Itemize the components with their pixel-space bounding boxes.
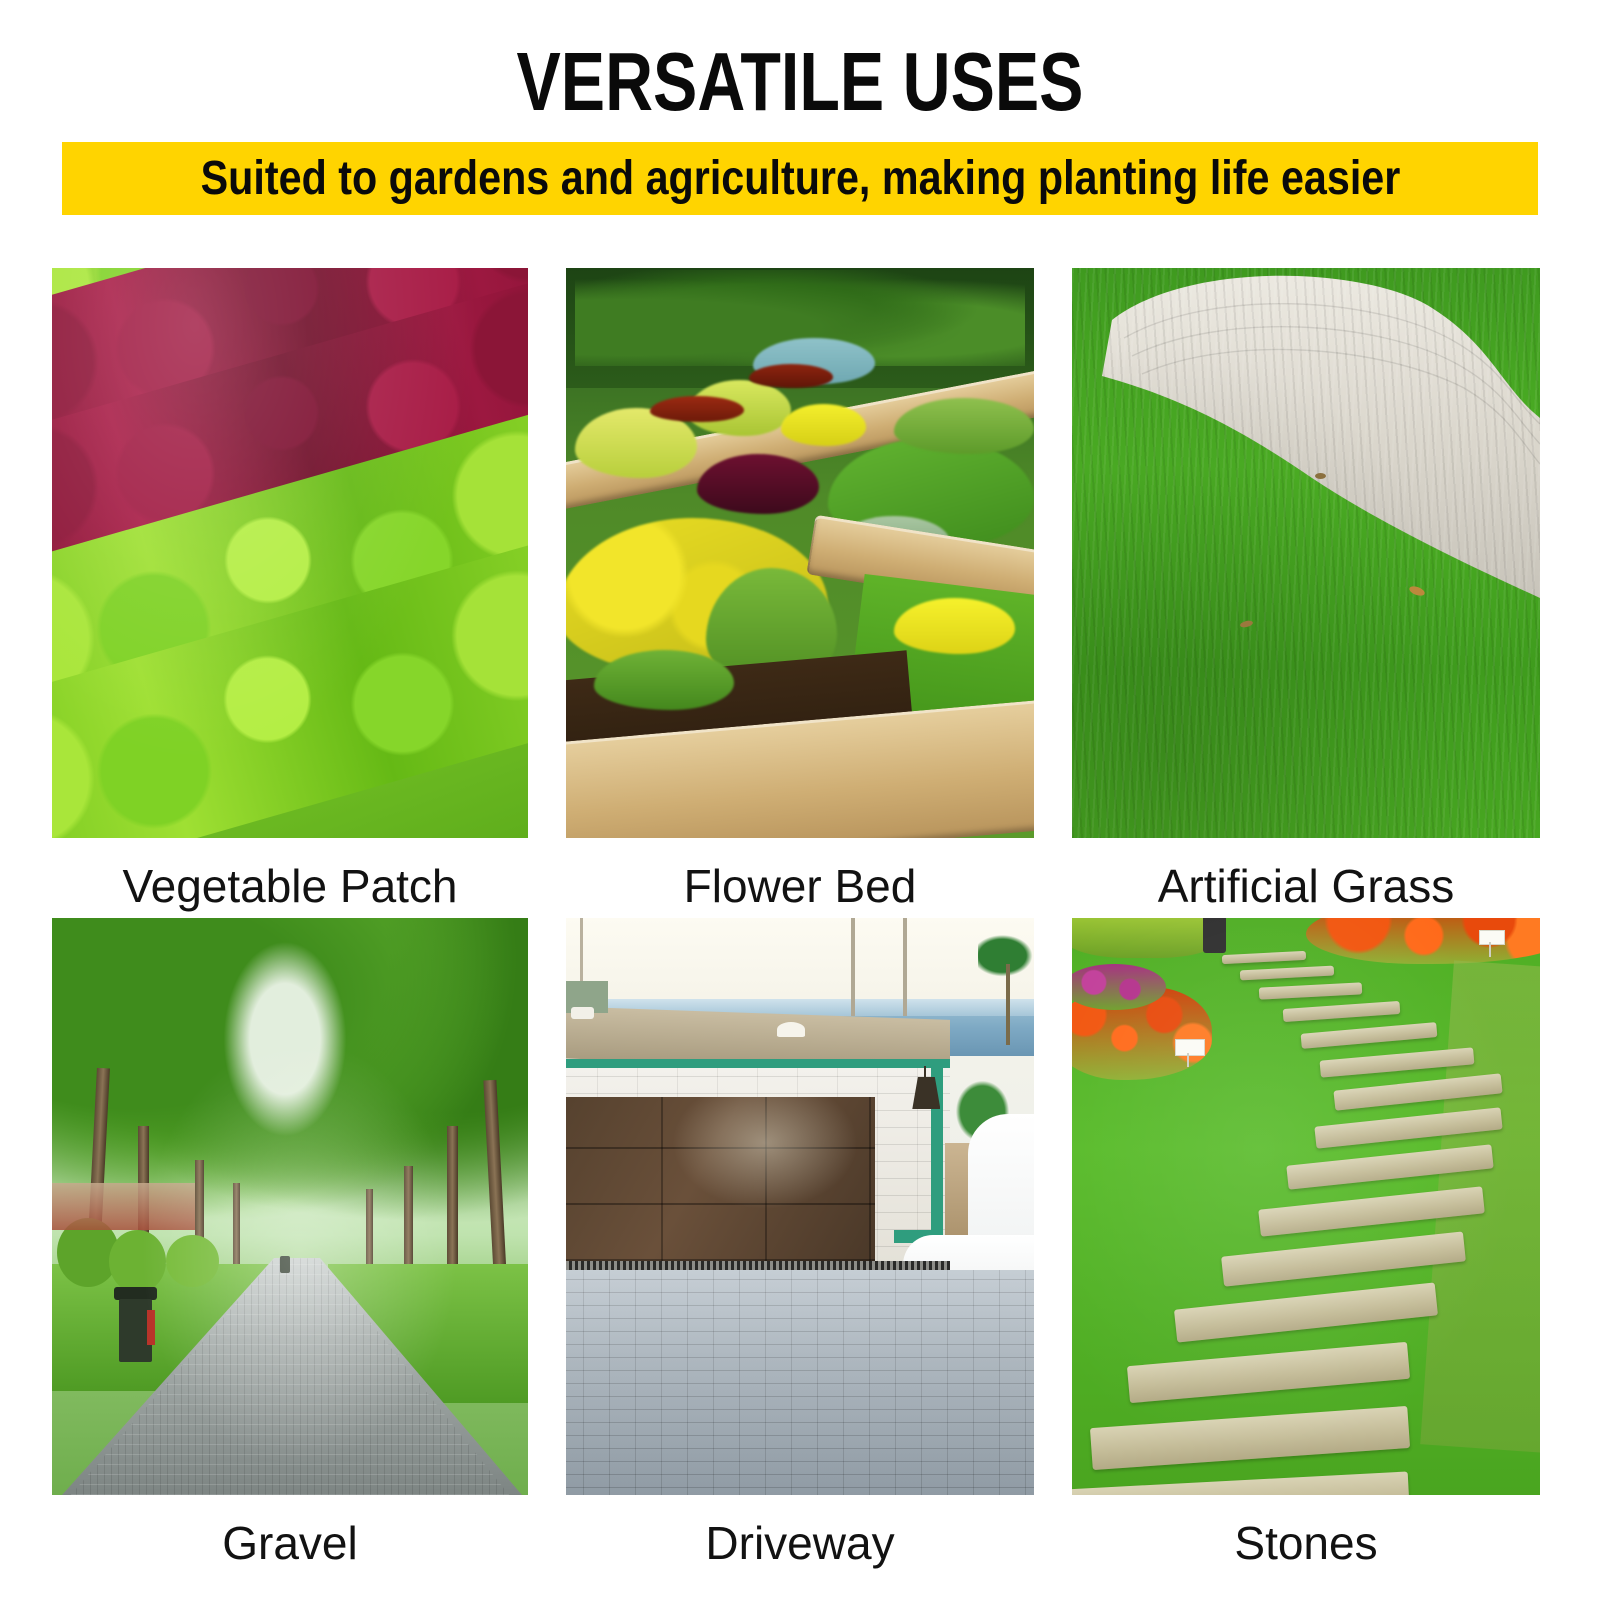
- gallery-item-stones[interactable]: Stones: [1072, 918, 1540, 1589]
- artificial-grass-photo: [1072, 268, 1540, 838]
- gallery-row-2: Gravel: [52, 918, 1540, 1589]
- vegetable-patch-photo: [52, 268, 528, 838]
- gallery-row-1: Vegetable Patch: [52, 268, 1540, 932]
- gallery-item-label: Stones: [1072, 1495, 1540, 1589]
- gallery-item-label: Driveway: [566, 1495, 1034, 1589]
- driveway-photo: [566, 918, 1034, 1495]
- gallery-item-vegetable-patch[interactable]: Vegetable Patch: [52, 268, 528, 932]
- gallery-item-gravel[interactable]: Gravel: [52, 918, 528, 1589]
- gallery-item-driveway[interactable]: Driveway: [566, 918, 1034, 1589]
- page-title: VERSATILE USES: [160, 34, 1440, 130]
- gravel-photo: [52, 918, 528, 1495]
- gallery-item-artificial-grass[interactable]: Artificial Grass: [1072, 268, 1540, 932]
- subtitle-text: Suited to gardens and agriculture, makin…: [200, 153, 1400, 205]
- gallery-item-label: Gravel: [52, 1495, 528, 1589]
- stones-photo: [1072, 918, 1540, 1495]
- gallery-item-flower-bed[interactable]: Flower Bed: [566, 268, 1034, 932]
- subtitle-banner: Suited to gardens and agriculture, makin…: [62, 142, 1538, 215]
- flower-bed-photo: [566, 268, 1034, 838]
